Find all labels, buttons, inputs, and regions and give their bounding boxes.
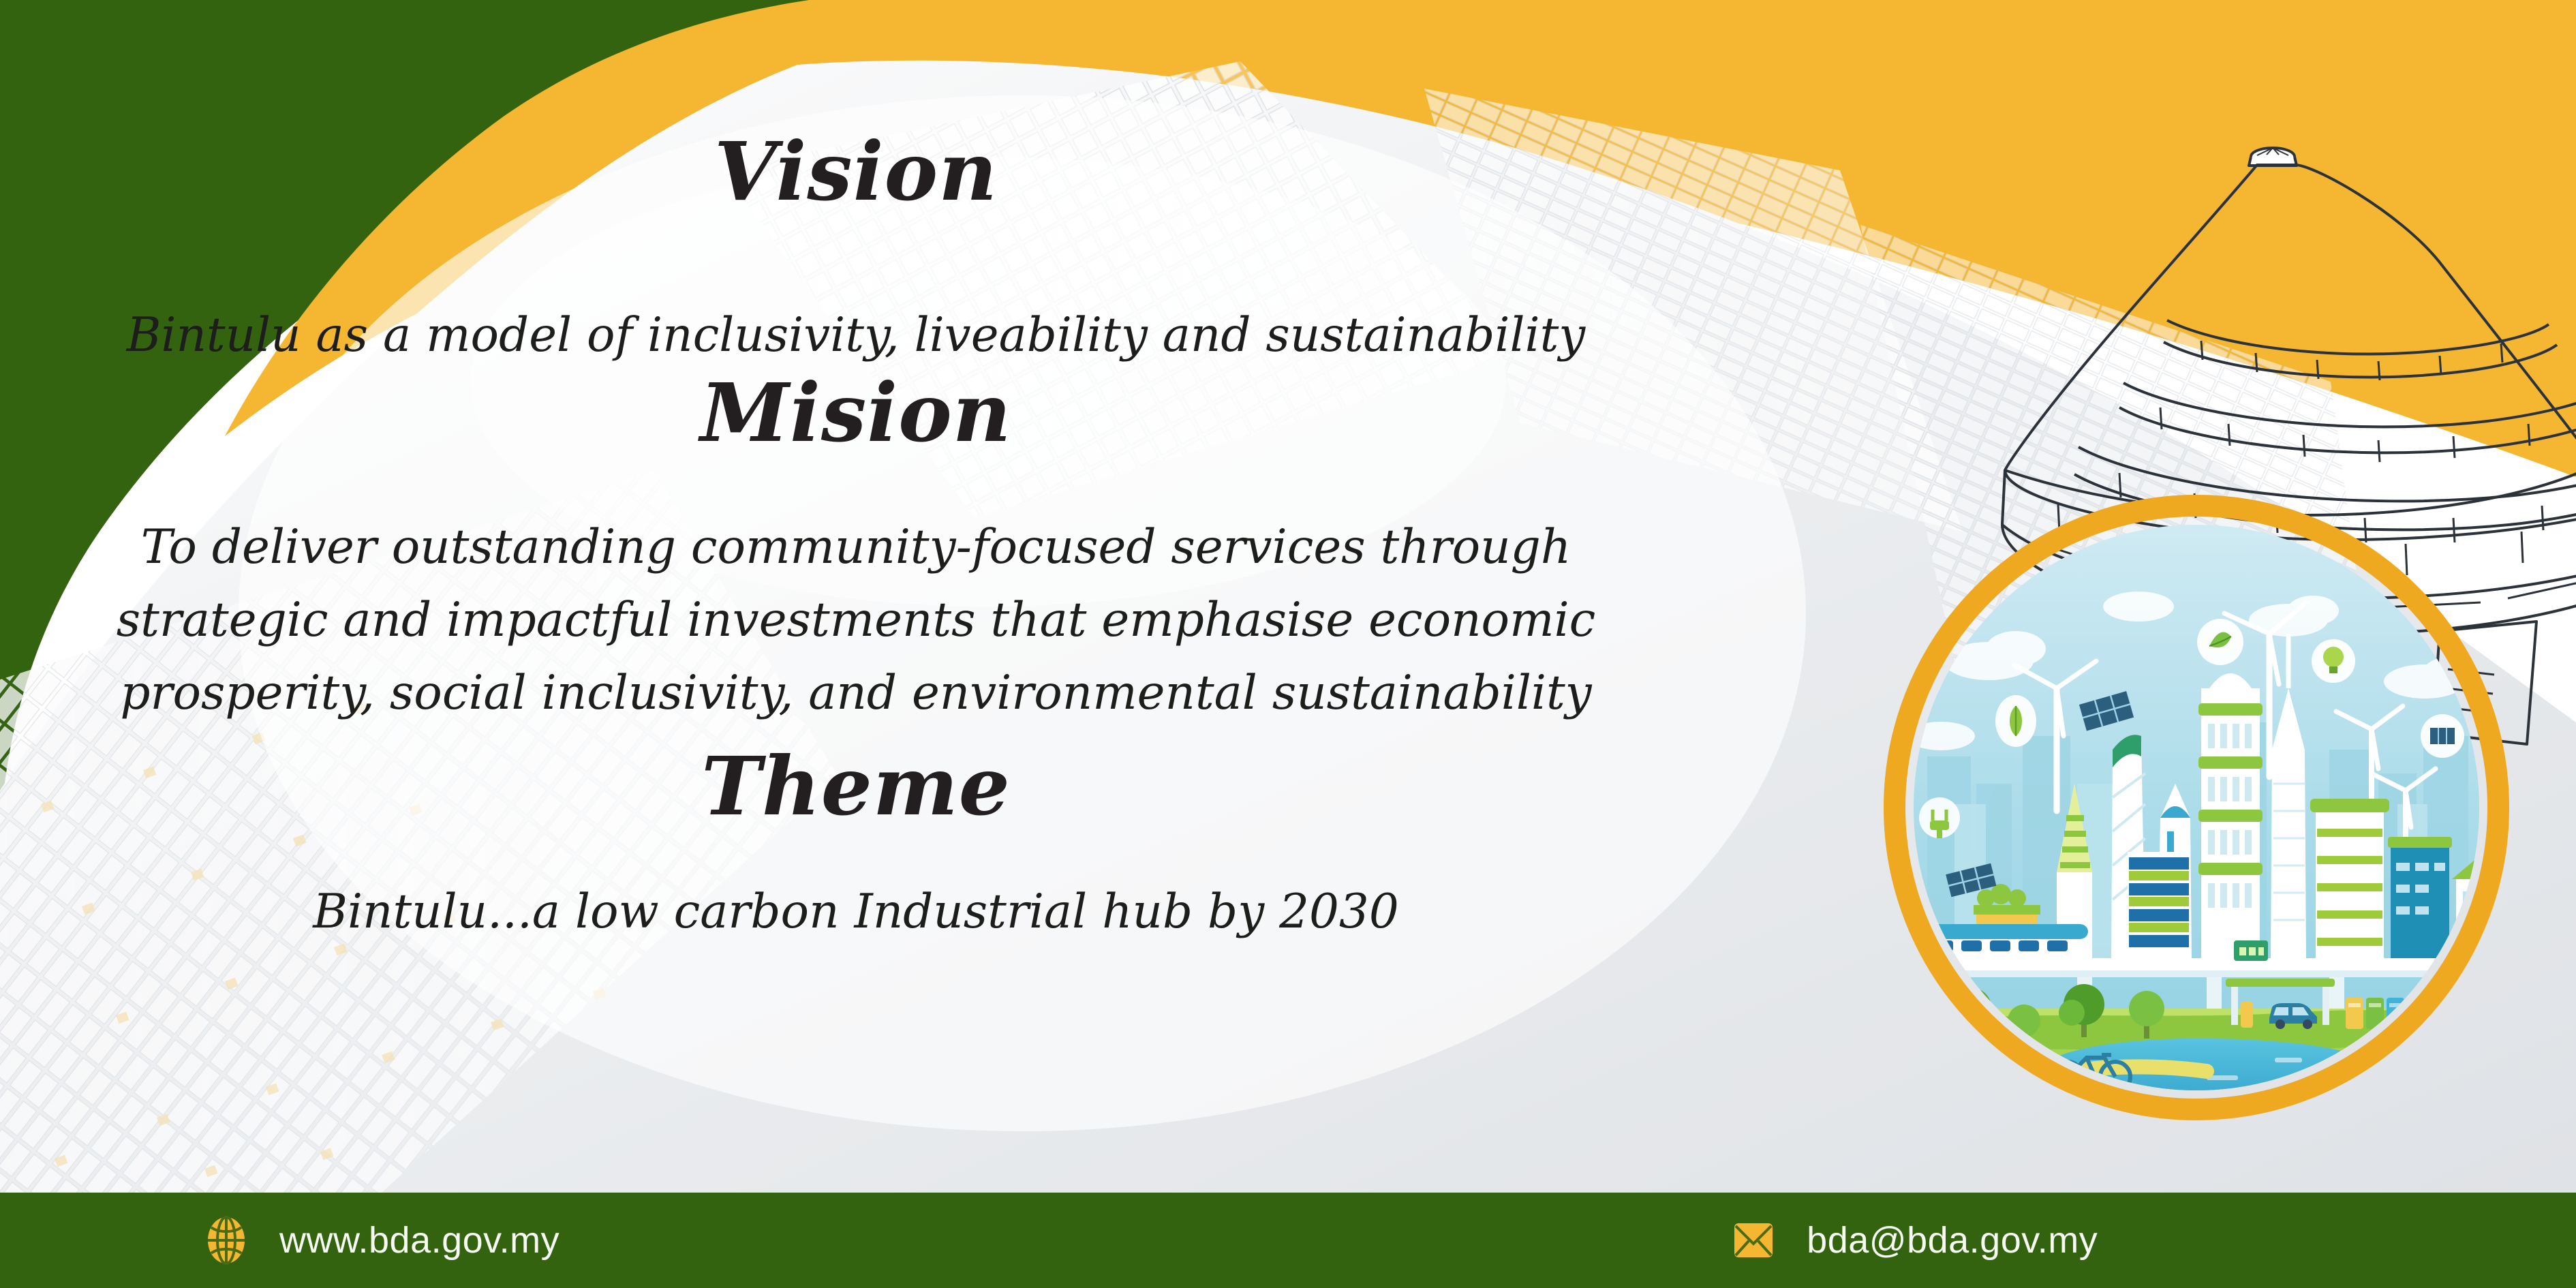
website-label: www.bda.gov.my: [279, 1219, 559, 1261]
mission-line-3: prosperity, social inclusivity, and envi…: [4, 669, 1708, 718]
theme-statement: Bintulu...a low carbon Industrial hub by…: [4, 887, 1708, 936]
footer-website-group[interactable]: www.bda.gov.my: [204, 1215, 559, 1266]
vision-statement: Bintulu as a model of inclusivity, livea…: [4, 311, 1708, 360]
vision-heading: Vision: [4, 131, 1708, 213]
eco-city-medallion: [1852, 463, 2541, 1152]
envelope-icon: [1732, 1215, 1775, 1266]
theme-heading: Theme: [4, 746, 1708, 827]
footer-bar: www.bda.gov.my bda@bda.gov.my: [0, 1193, 2576, 1288]
mission-heading: Mision: [4, 372, 1708, 454]
mission-line-2: strategic and impactful investments that…: [4, 596, 1708, 645]
footer-email-group[interactable]: bda@bda.gov.my: [1732, 1215, 2098, 1266]
mission-line-1: To deliver outstanding community-focused…: [4, 523, 1708, 572]
globe-icon: [204, 1215, 248, 1266]
banner-canvas: Vision Bintulu as a model of inclusivity…: [0, 0, 2576, 1288]
email-label: bda@bda.gov.my: [1807, 1219, 2098, 1261]
